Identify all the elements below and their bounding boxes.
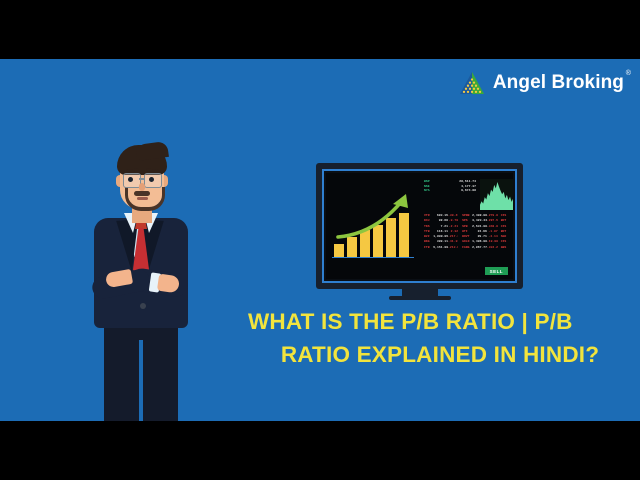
glasses-bridge-icon [139, 178, 144, 180]
monitor-screen: BSP28,511.74NSE4,177.37NYA9,674.88 VTR68… [326, 173, 513, 279]
index-label: NYA [424, 188, 430, 193]
table-row: FTB5,151.00-213.01FANG2,867.77-334.25GBS [424, 245, 510, 250]
table-cell: -334.25 [487, 245, 498, 250]
sell-button[interactable]: SELL [485, 267, 508, 275]
upward-trend-arrow-icon [334, 191, 416, 245]
table-cell: 5,151.00 [433, 245, 448, 250]
businessman-character [78, 125, 204, 421]
table-cell: -213.01 [448, 245, 458, 250]
character-leg-gap [139, 340, 143, 421]
market-sparkline-chart [480, 179, 513, 210]
brand-logo[interactable]: Angel Broking® [459, 71, 624, 95]
character-nose [139, 183, 145, 191]
character-eye-right [149, 177, 154, 182]
video-title-line-2: RATIO EXPLAINED IN HINDI? [248, 338, 632, 371]
table-cell: GBS [498, 245, 510, 250]
stock-quote-table: VTR683.15-39.47SPNB2,498.00-279.00CISDXJ… [424, 213, 510, 250]
video-thumbnail: Angel Broking® [0, 0, 640, 480]
table-cell: FANG [458, 245, 472, 250]
index-value: 9,674.88 [461, 188, 476, 193]
trademark-symbol: ® [626, 70, 631, 77]
letterbox-top [0, 0, 640, 59]
character-eye-left [128, 177, 133, 182]
sparkline-area [480, 182, 513, 210]
brand-name: Angel Broking® [493, 72, 624, 94]
table-cell: FTB [424, 245, 433, 250]
index-quote-row: NYA9,674.88 [424, 188, 476, 193]
trading-terminal-monitor: BSP28,511.74NSE4,177.37NYA9,674.88 VTR68… [316, 163, 523, 289]
character-jacket-button [140, 303, 146, 309]
monitor-bezel: BSP28,511.74NSE4,177.37NYA9,674.88 VTR68… [322, 169, 517, 283]
market-ticker-panel: BSP28,511.74NSE4,177.37NYA9,674.88 VTR68… [424, 179, 510, 276]
character-mouth [137, 197, 148, 200]
video-title-line-1: WHAT IS THE P/B RATIO | P/B [248, 305, 632, 338]
angel-broking-triangle-logo-icon [459, 71, 485, 95]
growth-bar-chart [332, 187, 416, 265]
character-moustache [134, 191, 150, 196]
video-title: WHAT IS THE P/B RATIO | P/B RATIO EXPLAI… [248, 305, 632, 371]
letterbox-bottom [0, 421, 640, 480]
slide-canvas: Angel Broking® [0, 59, 640, 421]
table-cell: 2,867.77 [472, 245, 487, 250]
brand-name-text: Angel Broking [493, 72, 624, 93]
chart-bar [334, 244, 344, 257]
monitor-base [389, 296, 451, 300]
